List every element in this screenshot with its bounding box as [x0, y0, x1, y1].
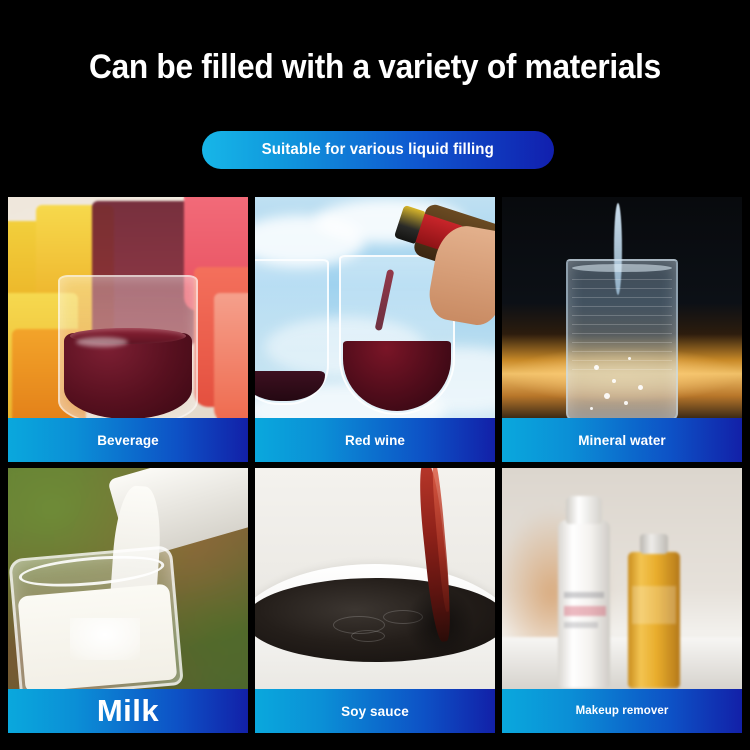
caption-bar-milk: Milk — [8, 689, 248, 733]
material-card-red-wine[interactable]: Red wine — [255, 197, 495, 462]
caption-label: Mineral water — [578, 433, 666, 448]
caption-bar-red-wine: Red wine — [255, 418, 495, 462]
page-title: Can be filled with a variety of material… — [26, 48, 724, 87]
caption-bar-mineral-water: Mineral water — [502, 418, 742, 462]
milk-photo — [8, 468, 248, 689]
material-card-soy-sauce[interactable]: Soy sauce — [255, 468, 495, 733]
soy-sauce-photo — [255, 468, 495, 689]
wine-glass-left-icon — [255, 259, 329, 405]
caption-label: Milk — [97, 693, 159, 729]
juice-glass-icon — [58, 275, 198, 418]
caption-label: Makeup remover — [576, 705, 669, 717]
materials-grid: Beverage Red wine — [8, 197, 742, 738]
caption-bar-beverage: Beverage — [8, 418, 248, 462]
caption-label: Soy sauce — [341, 704, 409, 719]
subtitle-badge[interactable]: Suitable for various liquid filling — [202, 131, 554, 169]
material-card-beverage[interactable]: Beverage — [8, 197, 248, 462]
caption-label: Beverage — [97, 433, 159, 448]
beverage-photo — [8, 197, 248, 418]
material-card-makeup-remover[interactable]: Makeup remover — [502, 468, 742, 733]
caption-bar-soy-sauce: Soy sauce — [255, 689, 495, 733]
caption-bar-makeup-remover: Makeup remover — [502, 689, 742, 733]
water-glass-icon — [566, 259, 678, 418]
material-card-milk[interactable]: Milk — [8, 468, 248, 733]
material-card-mineral-water[interactable]: Mineral water — [502, 197, 742, 462]
caption-label: Red wine — [345, 433, 405, 448]
makeup-remover-photo — [502, 468, 742, 689]
red-wine-photo — [255, 197, 495, 418]
promo-banner: Can be filled with a variety of material… — [0, 0, 750, 750]
subtitle-badge-label: Suitable for various liquid filling — [262, 141, 494, 159]
mineral-water-photo — [502, 197, 742, 418]
